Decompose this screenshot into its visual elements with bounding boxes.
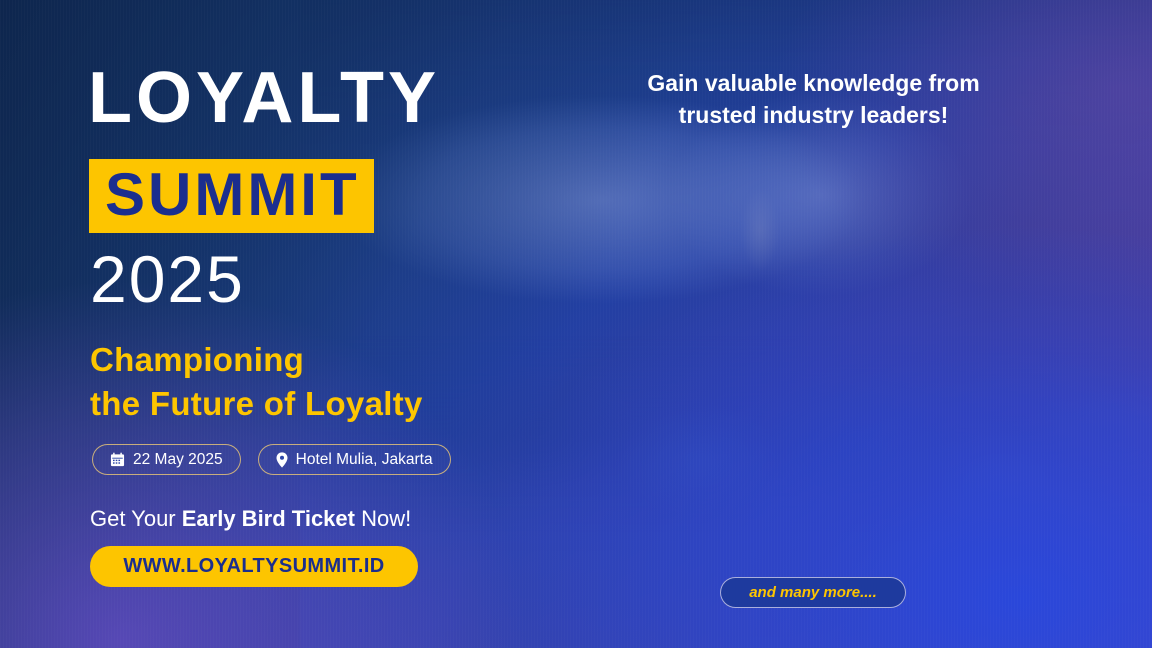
website-url-button[interactable]: WWW.LOYALTYSUMMIT.ID xyxy=(90,546,418,587)
event-headline: Gain valuable knowledge from trusted ind… xyxy=(616,67,1011,131)
event-venue-text: Hotel Mulia, Jakarta xyxy=(296,451,433,469)
event-meta-row: 22 May 2025 Hotel Mulia, Jakarta xyxy=(92,444,451,475)
event-year: 2025 xyxy=(90,246,245,312)
banner-content: LOYALTY SUMMIT 2025 Championing the Futu… xyxy=(0,0,1152,648)
and-many-more-badge: and many more.... xyxy=(720,577,906,608)
event-title-highlight-block: SUMMIT xyxy=(89,159,374,233)
event-tagline-line-1: Championing xyxy=(90,341,304,378)
event-tagline: Championing the Future of Loyalty xyxy=(90,338,423,426)
event-tagline-line-2: the Future of Loyalty xyxy=(90,385,423,422)
calendar-icon xyxy=(110,452,125,467)
event-title-line-1: LOYALTY xyxy=(88,62,440,134)
event-venue-badge: Hotel Mulia, Jakarta xyxy=(258,444,451,475)
cta-text: Get Your Early Bird Ticket Now! xyxy=(90,505,411,533)
event-date-badge: 22 May 2025 xyxy=(92,444,241,475)
event-title-line-2: SUMMIT xyxy=(105,167,360,223)
event-headline-line-2: trusted industry leaders! xyxy=(679,102,949,128)
event-headline-line-1: Gain valuable knowledge from xyxy=(647,70,979,96)
cta-prefix: Get Your xyxy=(90,506,182,531)
map-pin-icon xyxy=(276,452,288,468)
cta-emphasis: Early Bird Ticket xyxy=(182,506,355,531)
event-date-text: 22 May 2025 xyxy=(133,451,223,469)
event-promo-banner: LOYALTY SUMMIT 2025 Championing the Futu… xyxy=(0,0,1152,648)
cta-suffix: Now! xyxy=(355,506,411,531)
